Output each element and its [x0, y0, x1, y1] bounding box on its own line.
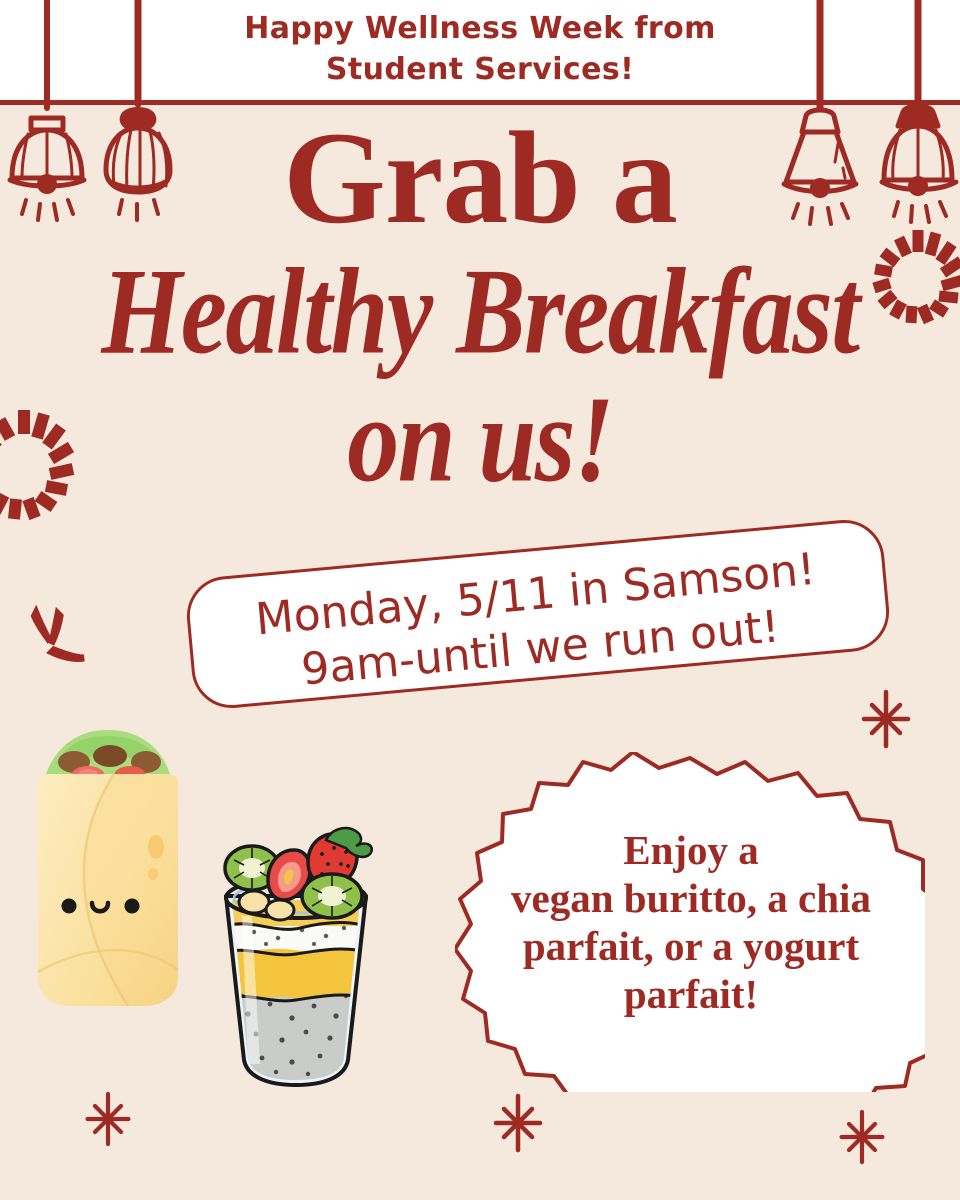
header-text: Happy Wellness Week from Student Service…	[0, 8, 960, 91]
title-line-1: Grab a	[0, 112, 960, 244]
menu-callout-starburst	[455, 752, 925, 1092]
sparkle-right	[858, 688, 914, 750]
leaf-flourish-left	[26, 596, 106, 676]
burrito-eye-left	[62, 899, 77, 914]
chia-parfait-glass-illustration	[196, 826, 396, 1096]
title-line-2: Healthy Breakfast	[0, 250, 960, 375]
burrito-character-illustration	[22, 722, 194, 1012]
sparkle-bottom-left	[82, 1090, 134, 1148]
burrito-speckle-2	[148, 868, 158, 880]
title-line-3: on us!	[0, 378, 960, 503]
header-line-2: Student Services!	[0, 49, 960, 90]
burrito-eye-right	[125, 899, 140, 914]
event-details-banner	[183, 517, 892, 712]
parfait-kiwi-right	[302, 874, 362, 918]
header-line-1: Happy Wellness Week from	[0, 8, 960, 49]
sparkle-bottom-right	[836, 1108, 888, 1166]
burrito-speckle-1	[148, 835, 164, 859]
poster-canvas: Happy Wellness Week from Student Service…	[0, 0, 960, 1200]
poster-title: Grab a Healthy Breakfast on us!	[0, 112, 960, 484]
sparkle-bottom-center	[490, 1092, 546, 1154]
